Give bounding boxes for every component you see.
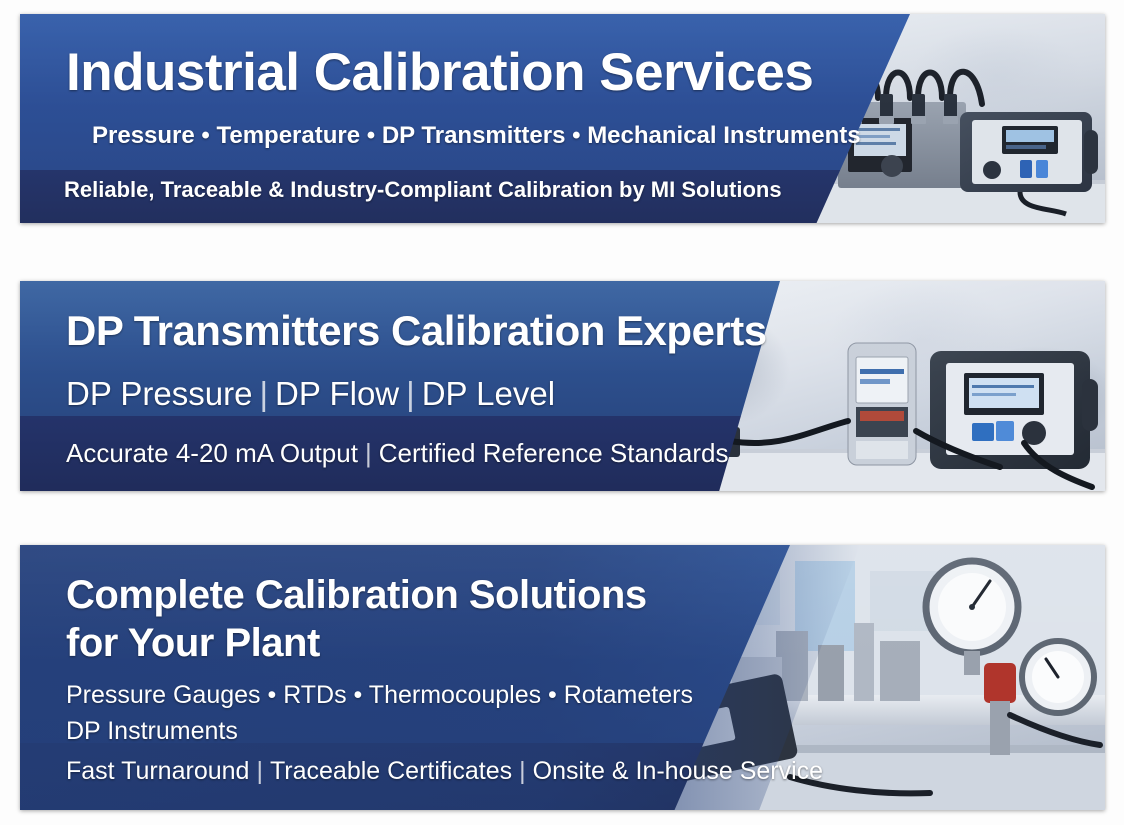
- separator-pipe: |: [399, 375, 422, 413]
- banner3-subhead-line1: Pressure Gauges • RTDs • Thermocouples •…: [66, 681, 693, 709]
- banner1-footer: Reliable, Traceable & Industry-Compliant…: [64, 177, 782, 203]
- banner1-subhead: Pressure • Temperature • DP Transmitters…: [92, 122, 861, 150]
- banner3-subhead: Pressure Gauges • RTDs • Thermocouples •…: [66, 677, 726, 749]
- banner2-footer: Accurate 4-20 mA Output|Certified Refere…: [66, 438, 728, 469]
- banner-set-page: Industrial Calibration Services Pressure…: [0, 0, 1124, 825]
- banner3-headline: Complete Calibration Solutions for Your …: [66, 571, 686, 667]
- banner1-headline: Industrial Calibration Services: [66, 42, 813, 103]
- separator-pipe: |: [249, 757, 270, 786]
- banner2-subhead-flow: DP Flow: [275, 375, 399, 412]
- banner-dp-transmitters-calibration-experts[interactable]: DP Transmitters Calibration Experts DP P…: [20, 281, 1105, 491]
- banner2-subhead-level: DP Level: [422, 375, 555, 412]
- separator-pipe: |: [252, 375, 275, 413]
- separator-pipe: |: [358, 438, 379, 469]
- banner2-subhead-pressure: DP Pressure: [66, 375, 252, 412]
- banner2-footer-standards: Certified Reference Standards: [379, 438, 729, 468]
- separator-pipe: |: [512, 757, 533, 786]
- banner2-headline: DP Transmitters Calibration Experts: [66, 307, 767, 355]
- banner3-footer-certificates: Traceable Certificates: [270, 757, 512, 785]
- banner3-footer-service: Onsite & In-house Service: [533, 757, 823, 785]
- banner3-headline-line1: Complete Calibration Solutions: [66, 573, 647, 617]
- banner3-footer: Fast Turnaround|Traceable Certificates|O…: [66, 757, 823, 786]
- banner3-subhead-line2: DP Instruments: [66, 717, 238, 745]
- banner3-footer-turnaround: Fast Turnaround: [66, 757, 249, 785]
- banner-complete-calibration-solutions[interactable]: Complete Calibration Solutions for Your …: [20, 545, 1105, 810]
- banner-industrial-calibration-services[interactable]: Industrial Calibration Services Pressure…: [20, 14, 1105, 223]
- banner2-footer-output: Accurate 4-20 mA Output: [66, 438, 358, 468]
- banner3-headline-line2: for Your Plant: [66, 621, 320, 665]
- banner2-subhead: DP Pressure|DP Flow|DP Level: [66, 375, 555, 413]
